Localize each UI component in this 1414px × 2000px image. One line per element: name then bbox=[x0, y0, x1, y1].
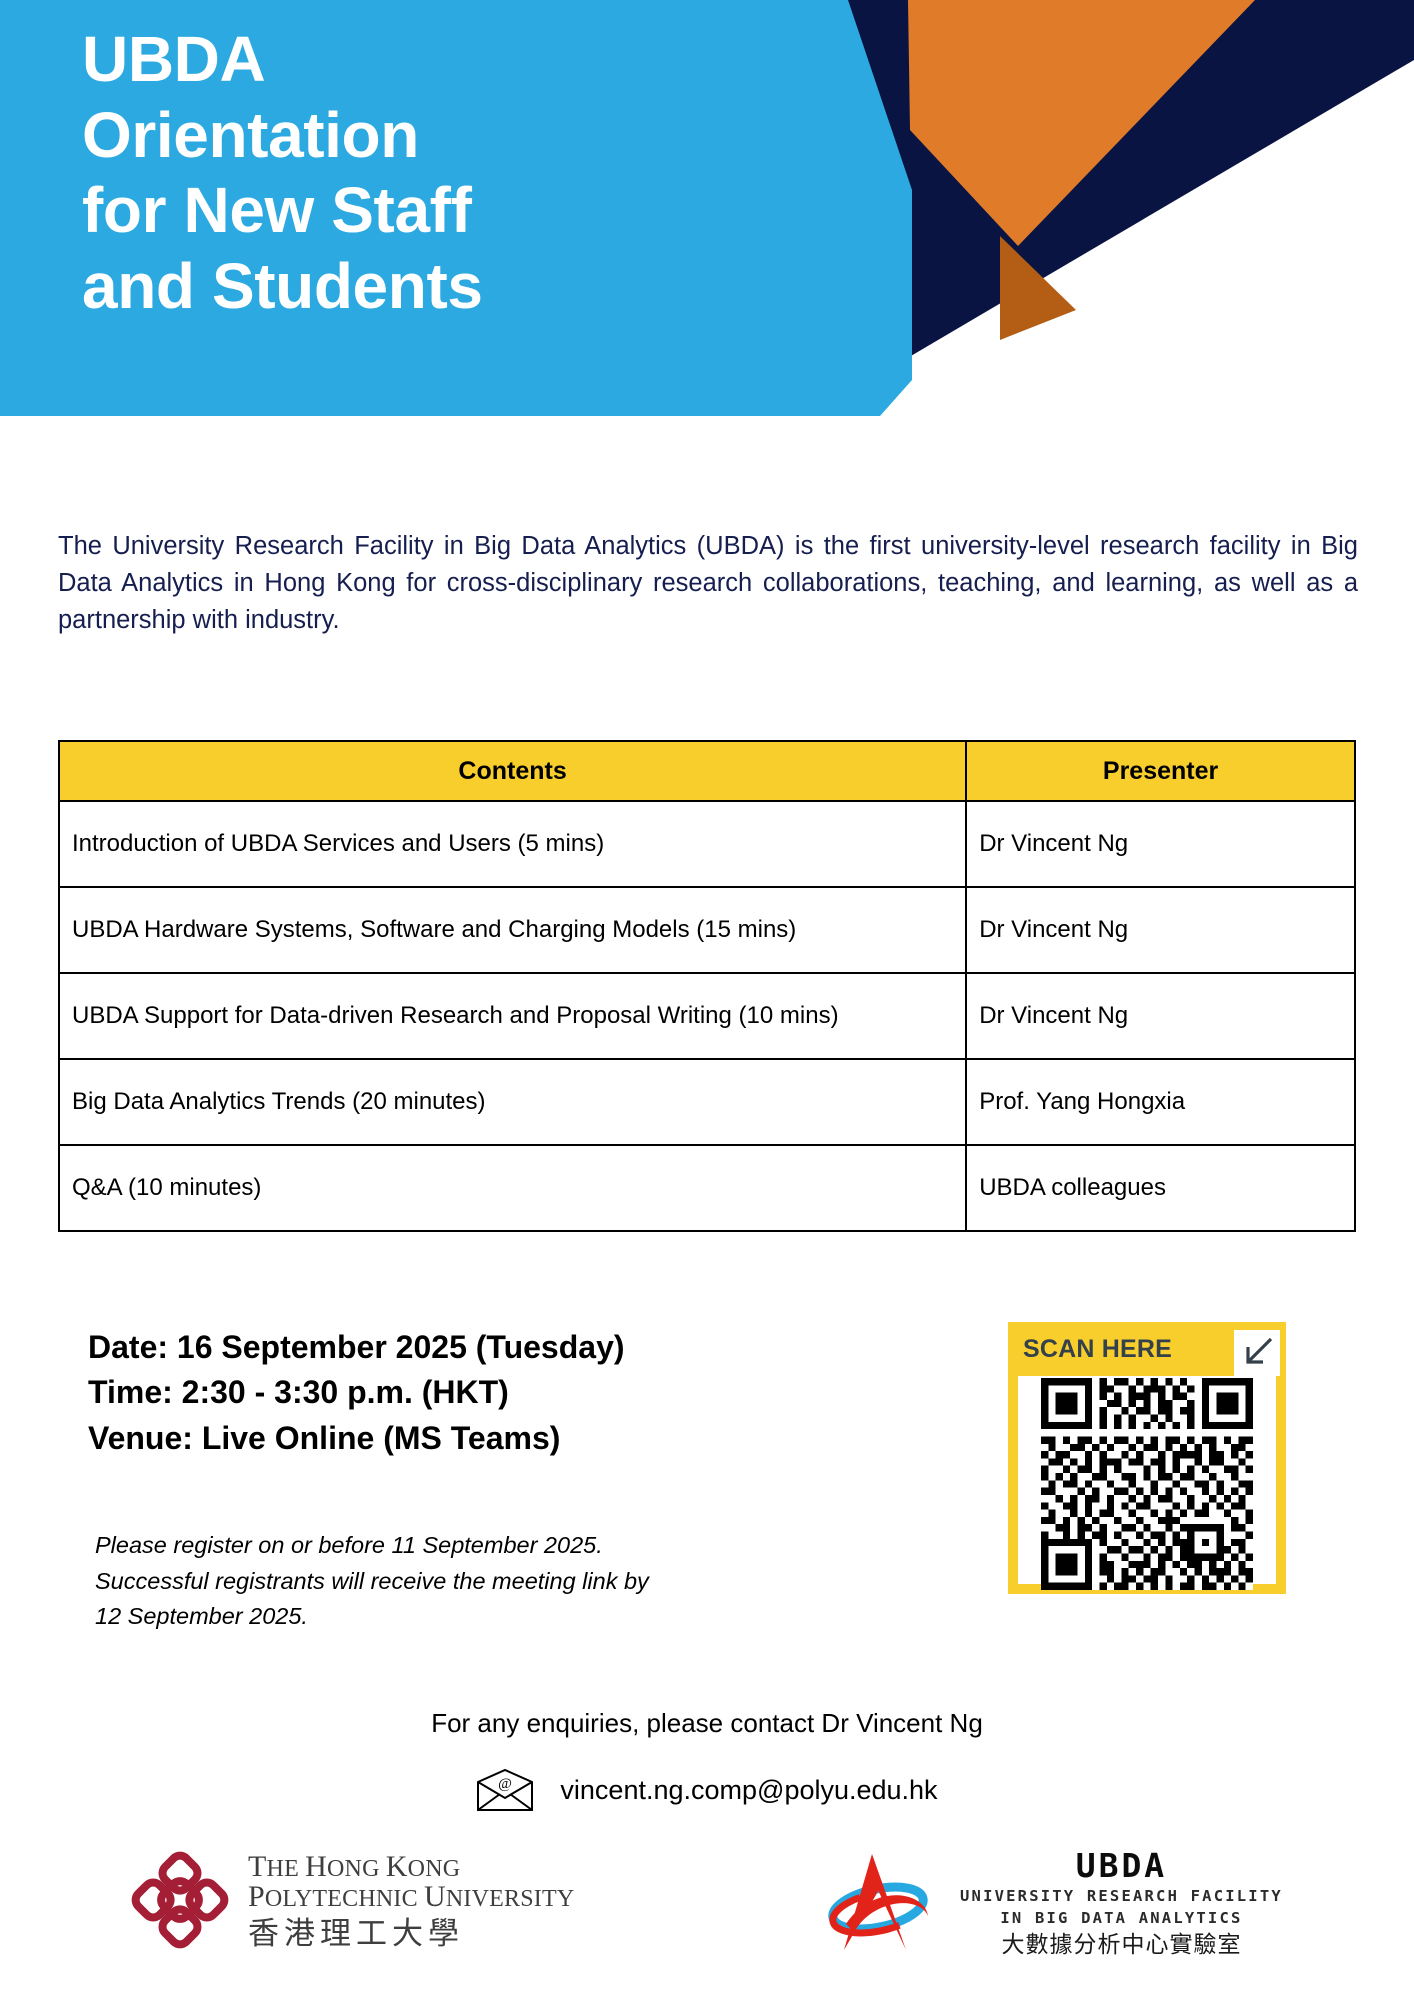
email-address[interactable]: vincent.ng.comp@polyu.edu.hk bbox=[560, 1775, 937, 1806]
arrow-down-left-icon bbox=[1240, 1336, 1274, 1370]
cell-presenter: Dr Vincent Ng bbox=[966, 887, 1355, 973]
svg-text:@: @ bbox=[499, 1776, 513, 1792]
ubda-wordmark: UBDA UNIVERSITY RESEARCH FACILITY IN BIG… bbox=[960, 1849, 1283, 1956]
footer-logos: THE HONG KONG POLYTECHNIC UNIVERSITY 香港理… bbox=[0, 1838, 1414, 1988]
table-row: Introduction of UBDA Services and Users … bbox=[59, 801, 1355, 887]
cell-contents: Introduction of UBDA Services and Users … bbox=[59, 801, 966, 887]
cell-contents: UBDA Support for Data-driven Research an… bbox=[59, 973, 966, 1059]
event-time: Time: 2:30 - 3:30 p.m. (HKT) bbox=[88, 1370, 958, 1415]
registration-note-line-2: Successful registrants will receive the … bbox=[95, 1564, 935, 1600]
cell-presenter: Dr Vincent Ng bbox=[966, 973, 1355, 1059]
registration-note-line-3: 12 September 2025. bbox=[95, 1599, 935, 1635]
table-row: Big Data Analytics Trends (20 minutes) P… bbox=[59, 1059, 1355, 1145]
cell-presenter: Prof. Yang Hongxia bbox=[966, 1059, 1355, 1145]
event-date: Date: 16 September 2025 (Tuesday) bbox=[88, 1325, 958, 1370]
registration-note: Please register on or before 11 Septembe… bbox=[95, 1528, 935, 1635]
cell-contents: Big Data Analytics Trends (20 minutes) bbox=[59, 1059, 966, 1145]
table-row: UBDA Support for Data-driven Research an… bbox=[59, 973, 1355, 1059]
cell-presenter: Dr Vincent Ng bbox=[966, 801, 1355, 887]
cell-contents: UBDA Hardware Systems, Software and Char… bbox=[59, 887, 966, 973]
polyu-knot-mark-icon bbox=[128, 1848, 232, 1952]
poster-root: UBDA Orientation for New Staff and Stude… bbox=[0, 0, 1414, 2000]
qr-code-card[interactable]: SCAN HERE bbox=[1008, 1322, 1286, 1594]
enquiry-line: For any enquiries, please contact Dr Vin… bbox=[0, 1708, 1414, 1739]
ubda-subtitle-line-1: UNIVERSITY RESEARCH FACILITY bbox=[960, 1889, 1283, 1905]
envelope-at-icon: @ bbox=[476, 1768, 534, 1812]
ubda-subtitle-chinese: 大數據分析中心實驗室 bbox=[960, 1933, 1283, 1956]
agenda-table-head: Contents Presenter bbox=[59, 741, 1355, 801]
agenda-table-body: Introduction of UBDA Services and Users … bbox=[59, 801, 1355, 1231]
event-details: Date: 16 September 2025 (Tuesday) Time: … bbox=[88, 1325, 958, 1461]
email-row: @ vincent.ng.comp@polyu.edu.hk bbox=[0, 1768, 1414, 1812]
polyu-name-line-1: THE HONG KONG bbox=[248, 1852, 574, 1882]
cell-contents: Q&A (10 minutes) bbox=[59, 1145, 966, 1231]
column-header-contents: Contents bbox=[59, 741, 966, 801]
table-header-row: Contents Presenter bbox=[59, 741, 1355, 801]
page-title: UBDA Orientation for New Staff and Stude… bbox=[82, 22, 822, 324]
ubda-subtitle-line-2: IN BIG DATA ANALYTICS bbox=[960, 1911, 1283, 1927]
ubda-swoosh-mark-icon bbox=[820, 1846, 946, 1958]
qr-code-icon[interactable] bbox=[1041, 1378, 1253, 1590]
cell-presenter: UBDA colleagues bbox=[966, 1145, 1355, 1231]
event-venue: Venue: Live Online (MS Teams) bbox=[88, 1416, 958, 1461]
agenda-table-wrapper: Contents Presenter Introduction of UBDA … bbox=[58, 740, 1356, 1232]
intro-paragraph: The University Research Facility in Big … bbox=[58, 528, 1358, 640]
arrow-down-left-icon-box bbox=[1234, 1330, 1280, 1376]
ubda-logo: UBDA UNIVERSITY RESEARCH FACILITY IN BIG… bbox=[820, 1846, 1283, 1958]
polyu-wordmark: THE HONG KONG POLYTECHNIC UNIVERSITY 香港理… bbox=[248, 1852, 574, 1949]
ubda-word: UBDA bbox=[960, 1849, 1283, 1882]
scan-here-label: SCAN HERE bbox=[1023, 1335, 1172, 1364]
table-row: UBDA Hardware Systems, Software and Char… bbox=[59, 887, 1355, 973]
column-header-presenter: Presenter bbox=[966, 741, 1355, 801]
registration-note-line-1: Please register on or before 11 Septembe… bbox=[95, 1528, 935, 1564]
agenda-table: Contents Presenter Introduction of UBDA … bbox=[58, 740, 1356, 1232]
header-banner: UBDA Orientation for New Staff and Stude… bbox=[0, 0, 1414, 480]
polyu-name-line-2: POLYTECHNIC UNIVERSITY bbox=[248, 1882, 574, 1912]
qr-code-surface[interactable] bbox=[1018, 1376, 1276, 1584]
table-row: Q&A (10 minutes) UBDA colleagues bbox=[59, 1145, 1355, 1231]
polyu-name-chinese: 香港理工大學 bbox=[248, 1918, 574, 1949]
polyu-logo: THE HONG KONG POLYTECHNIC UNIVERSITY 香港理… bbox=[128, 1848, 574, 1952]
